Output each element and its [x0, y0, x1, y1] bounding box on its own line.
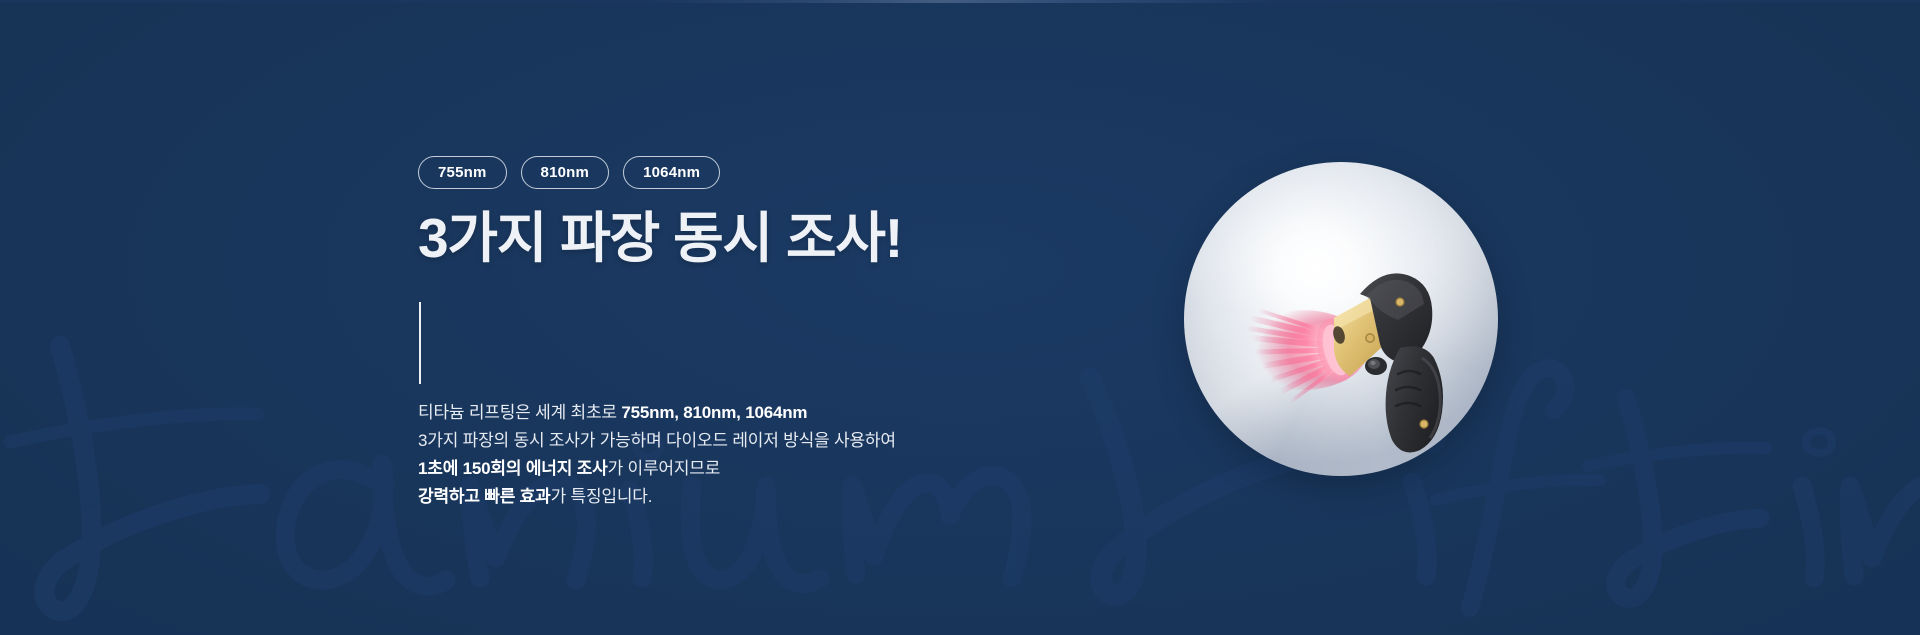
laser-handpiece-illustration — [1184, 162, 1498, 476]
body-line-3: 1초에 150회의 에너지 조사가 이루어지므로 — [418, 455, 896, 483]
wavelength-badge-1064nm[interactable]: 1064nm — [623, 156, 720, 189]
body-line-4: 강력하고 빠른 효과가 특징입니다. — [418, 483, 896, 511]
banner-content: 755nm 810nm 1064nm 3가지 파장 동시 조사! 티타늄 리프팅… — [418, 0, 1198, 635]
body-line-4-bold: 강력하고 빠른 효과 — [418, 487, 551, 506]
body-line-3-plain: 가 이루어지므로 — [608, 459, 721, 478]
trigger — [1365, 357, 1387, 375]
wavelength-badge-row: 755nm 810nm 1064nm — [418, 156, 720, 189]
wavelength-badge-755nm[interactable]: 755nm — [418, 156, 507, 189]
body-line-1-bold: 755nm, 810nm, 1064nm — [621, 403, 807, 422]
wavelength-badge-810nm[interactable]: 810nm — [521, 156, 610, 189]
body-line-1: 티타늄 리프팅은 세계 최초로 755nm, 810nm, 1064nm — [418, 399, 896, 427]
vertical-divider — [419, 302, 421, 384]
product-image — [1184, 162, 1498, 476]
promo-banner: 755nm 810nm 1064nm 3가지 파장 동시 조사! 티타늄 리프팅… — [0, 0, 1920, 635]
body-line-3-bold: 1초에 150회의 에너지 조사 — [418, 459, 608, 478]
handpiece-grip — [1386, 346, 1443, 452]
headline: 3가지 파장 동시 조사! — [418, 208, 902, 270]
body-copy: 티타늄 리프팅은 세계 최초로 755nm, 810nm, 1064nm 3가지… — [418, 399, 896, 511]
body-line-1-plain: 티타늄 리프팅은 세계 최초로 — [418, 403, 621, 422]
body-line-4-plain: 가 특징입니다. — [551, 487, 653, 506]
body-line-2: 3가지 파장의 동시 조사가 가능하며 다이오드 레이저 방식을 사용하여 — [418, 427, 896, 455]
